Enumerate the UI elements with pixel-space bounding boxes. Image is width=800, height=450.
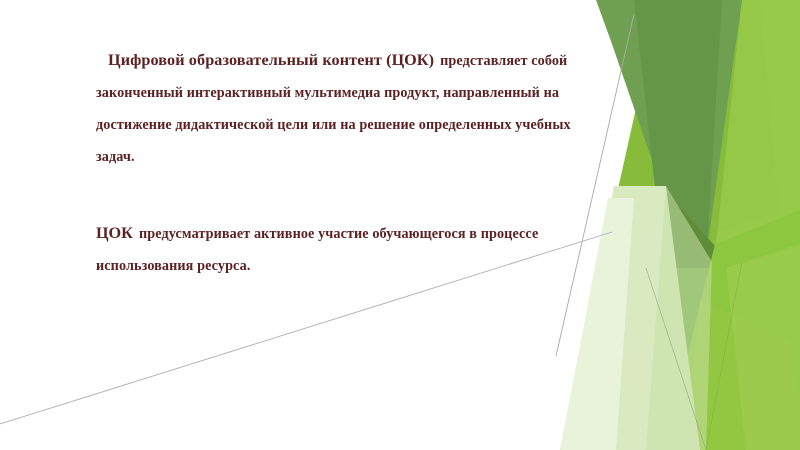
- polygon-highlight-sheet: [716, 0, 800, 244]
- paragraph-2-rest: предусматривает активное участие обучающ…: [96, 226, 538, 274]
- polygon-bright-lower-right: [664, 208, 800, 450]
- hairline-diagonal-short: [646, 268, 706, 450]
- paragraph-2: ЦОКпредусматривает активное участие обуч…: [96, 217, 598, 282]
- polygon-dark-accent: [664, 190, 724, 300]
- polygon-light-green: [686, 300, 800, 450]
- polygon-sage-large: [596, 0, 742, 300]
- polygon-dark-band: [634, 0, 722, 268]
- slide-canvas: Цифровой образовательный контент (ЦОК)пр…: [0, 0, 800, 450]
- body-text-placeholder: Цифровой образовательный контент (ЦОК)пр…: [96, 44, 598, 282]
- hairline-diagonal-right: [706, 262, 742, 450]
- paragraph-1-rest: представляет собой законченный интеракти…: [96, 53, 571, 165]
- polygon-pale-wash-br: [726, 244, 800, 450]
- polygon-pale-overlay: [646, 186, 712, 450]
- paragraph-1: Цифровой образовательный контент (ЦОК)пр…: [96, 44, 598, 173]
- paragraph-2-lead: ЦОК: [96, 224, 133, 242]
- paragraph-1-lead: Цифровой образовательный контент (ЦОК): [108, 51, 434, 69]
- polygon-mid-green-lower: [566, 268, 760, 450]
